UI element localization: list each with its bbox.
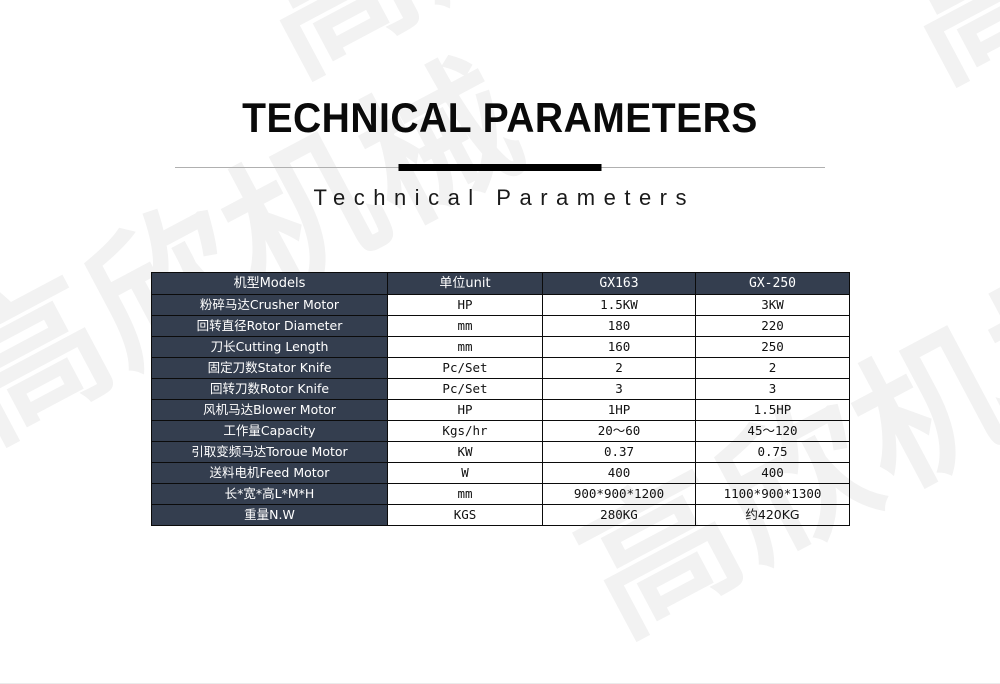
column-header-gx250: GX-250: [696, 273, 850, 295]
table-row: 风机马达Blower Motor HP 1HP 1.5HP: [152, 400, 850, 421]
cell-gx163: 400: [543, 463, 696, 484]
cell-gx163: 2: [543, 358, 696, 379]
row-label: 重量N.W: [152, 505, 388, 526]
column-header-unit: 单位unit: [388, 273, 543, 295]
cell-gx250: 3: [696, 379, 850, 400]
cell-unit: mm: [388, 316, 543, 337]
cell-unit: HP: [388, 400, 543, 421]
cell-gx250: 1.5HP: [696, 400, 850, 421]
cell-gx163: 180: [543, 316, 696, 337]
table-body: 粉碎马达Crusher Motor HP 1.5KW 3KW 回转直径Rotor…: [152, 295, 850, 526]
spec-table-container: 机型Models 单位unit GX163 GX-250 粉碎马达Crusher…: [151, 272, 849, 526]
row-label: 粉碎马达Crusher Motor: [152, 295, 388, 316]
cell-gx250: 1100*900*1300: [696, 484, 850, 505]
row-label: 送料电机Feed Motor: [152, 463, 388, 484]
table-row: 送料电机Feed Motor W 400 400: [152, 463, 850, 484]
row-label: 回转直径Rotor Diameter: [152, 316, 388, 337]
cell-gx163: 20〜60: [543, 421, 696, 442]
cell-unit: Pc/Set: [388, 379, 543, 400]
cell-gx163: 900*900*1200: [543, 484, 696, 505]
cell-gx163: 1HP: [543, 400, 696, 421]
page-title: TECHNICAL PARAMETERS: [35, 96, 965, 140]
cell-gx163: 160: [543, 337, 696, 358]
cell-gx163: 280KG: [543, 505, 696, 526]
column-header-models: 机型Models: [152, 273, 388, 295]
cell-gx250: 220: [696, 316, 850, 337]
table-row: 刀长Cutting Length mm 160 250: [152, 337, 850, 358]
row-label: 长*宽*高L*M*H: [152, 484, 388, 505]
cell-gx250: 2: [696, 358, 850, 379]
table-row: 固定刀数Stator Knife Pc/Set 2 2: [152, 358, 850, 379]
table-row: 回转刀数Rotor Knife Pc/Set 3 3: [152, 379, 850, 400]
cell-gx163: 3: [543, 379, 696, 400]
cell-gx250: 400: [696, 463, 850, 484]
table-row: 回转直径Rotor Diameter mm 180 220: [152, 316, 850, 337]
title-divider: [175, 163, 825, 173]
cell-gx163: 1.5KW: [543, 295, 696, 316]
technical-parameters-table: 机型Models 单位unit GX163 GX-250 粉碎马达Crusher…: [151, 272, 850, 526]
table-row: 长*宽*高L*M*H mm 900*900*1200 1100*900*1300: [152, 484, 850, 505]
column-header-gx163: GX163: [543, 273, 696, 295]
cell-unit: mm: [388, 337, 543, 358]
divider-accent-bar: [399, 164, 602, 171]
cell-unit: Kgs/hr: [388, 421, 543, 442]
cell-unit: Pc/Set: [388, 358, 543, 379]
cell-gx163: 0.37: [543, 442, 696, 463]
table-row: 工作量Capacity Kgs/hr 20〜60 45〜120: [152, 421, 850, 442]
table-row: 引取变频马达Toroue Motor KW 0.37 0.75: [152, 442, 850, 463]
page-header: TECHNICAL PARAMETERS Technical Parameter…: [0, 0, 1000, 211]
table-header-row: 机型Models 单位unit GX163 GX-250: [152, 273, 850, 295]
row-label: 固定刀数Stator Knife: [152, 358, 388, 379]
cell-gx250: 45〜120: [696, 421, 850, 442]
row-label: 刀长Cutting Length: [152, 337, 388, 358]
page-subtitle: Technical Parameters: [0, 185, 1000, 211]
table-row: 重量N.W KGS 280KG 约420KG: [152, 505, 850, 526]
row-label: 回转刀数Rotor Knife: [152, 379, 388, 400]
cell-gx250: 250: [696, 337, 850, 358]
row-label: 工作量Capacity: [152, 421, 388, 442]
cell-unit: HP: [388, 295, 543, 316]
cell-gx250: 约420KG: [696, 505, 850, 526]
row-label: 引取变频马达Toroue Motor: [152, 442, 388, 463]
table-row: 粉碎马达Crusher Motor HP 1.5KW 3KW: [152, 295, 850, 316]
cell-unit: KGS: [388, 505, 543, 526]
cell-gx250: 3KW: [696, 295, 850, 316]
cell-gx250: 0.75: [696, 442, 850, 463]
cell-unit: mm: [388, 484, 543, 505]
cell-unit: KW: [388, 442, 543, 463]
cell-unit: W: [388, 463, 543, 484]
row-label: 风机马达Blower Motor: [152, 400, 388, 421]
